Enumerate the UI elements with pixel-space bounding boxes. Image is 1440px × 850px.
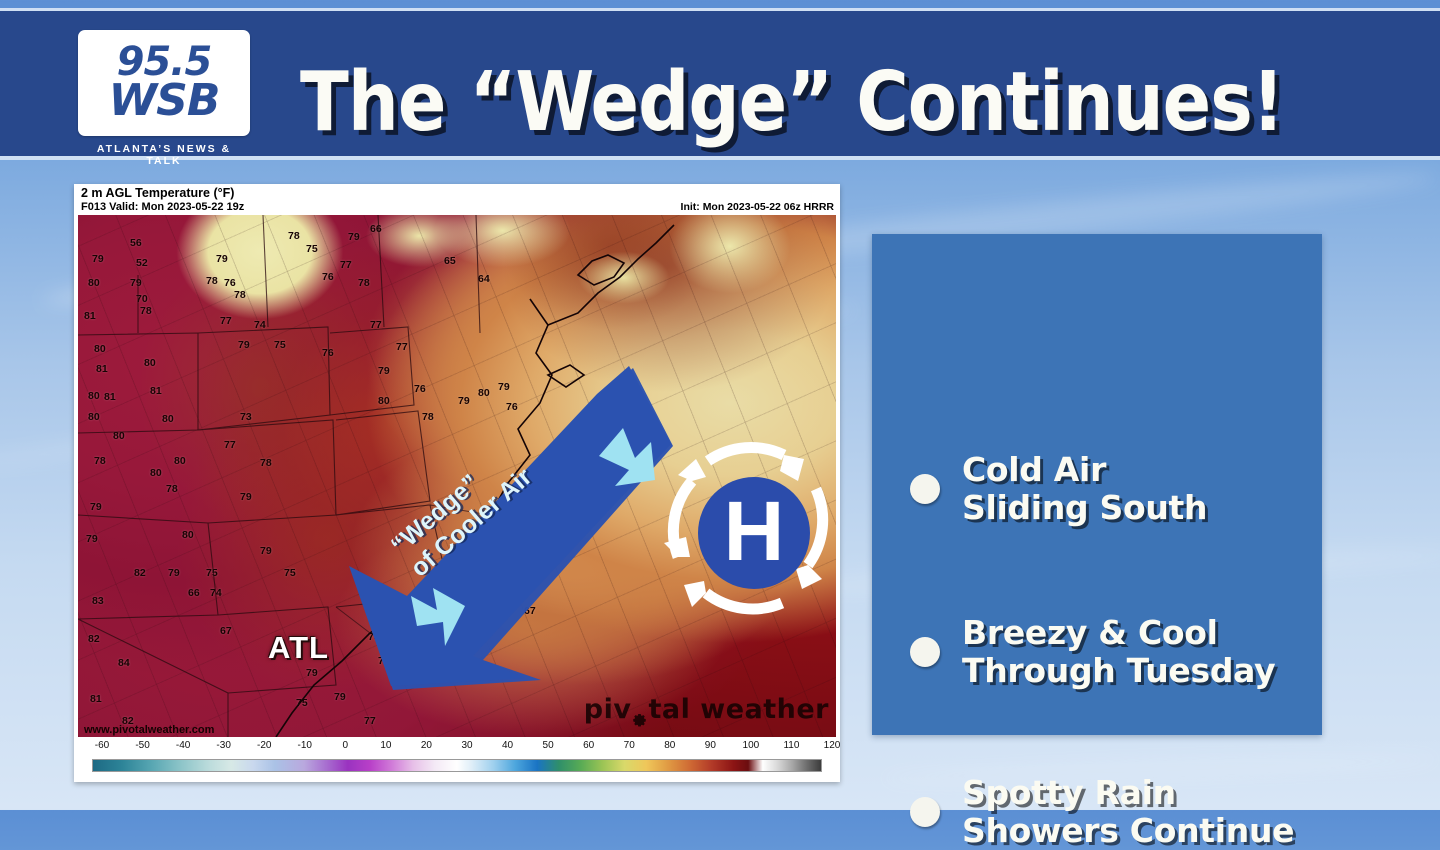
colorbar-tick: 100 xyxy=(743,740,760,751)
pivotal-weather-url: www.pivotalweather.com xyxy=(84,724,214,736)
colorbar-tick: 70 xyxy=(624,740,635,751)
bullet-text: Breezy & Cool Through Tuesday xyxy=(962,614,1275,690)
colorbar-tick: 40 xyxy=(502,740,513,751)
bullet-text: Spotty Rain Showers Continue xyxy=(962,774,1294,850)
colorbar-tick: 90 xyxy=(705,740,716,751)
high-pressure-circle: H xyxy=(698,477,810,589)
colorbar-tick: 80 xyxy=(664,740,675,751)
colorbar-tick: -20 xyxy=(257,740,271,751)
bullet-dot-icon xyxy=(910,637,940,667)
bullet-item: Cold Air Sliding South xyxy=(910,451,1207,527)
map-title: 2 m AGL Temperature (°F) xyxy=(81,186,234,200)
colorbar-tick: 0 xyxy=(343,740,349,751)
bullet-line1: Breezy & Cool xyxy=(962,614,1275,652)
page-title: The “Wedge” Continues! xyxy=(300,53,1231,153)
header-bar: 95.5 WSB ATLANTA’S NEWS & TALK The “Wedg… xyxy=(0,8,1440,160)
map-header: 2 m AGL Temperature (°F) F013 Valid: Mon… xyxy=(74,184,840,215)
city-label-atl: ATL xyxy=(268,630,329,666)
colorbar-tick: 60 xyxy=(583,740,594,751)
temperature-colorbar: -60-50-40-30-20-100102030405060708090100… xyxy=(78,740,836,778)
wedge-arrow-annotation: “Wedge” of Cooler Air xyxy=(333,360,673,690)
bullet-item: Spotty Rain Showers Continue xyxy=(910,774,1294,850)
watermark-text-pre: piv xyxy=(584,694,632,725)
colorbar-tick: -60 xyxy=(95,740,109,751)
high-pressure-annotation: H xyxy=(656,437,836,627)
bullet-item: Breezy & Cool Through Tuesday xyxy=(910,614,1275,690)
colorbar-tick: 50 xyxy=(543,740,554,751)
pivotal-weather-watermark: piv tal weather xyxy=(584,694,829,725)
watermark-text-post: tal weather xyxy=(648,694,829,725)
colorbar-tick: 110 xyxy=(783,740,799,751)
colorbar-tick: 10 xyxy=(380,740,391,751)
map-valid-time: F013 Valid: Mon 2023-05-22 19z xyxy=(81,201,244,213)
bullet-line2: Sliding South xyxy=(962,489,1207,527)
weather-map-panel: 2 m AGL Temperature (°F) F013 Valid: Mon… xyxy=(74,184,840,782)
colorbar-tick: -50 xyxy=(135,740,149,751)
colorbar-tick: 30 xyxy=(461,740,472,751)
logo-callsign: WSB xyxy=(109,80,220,122)
high-pressure-letter: H xyxy=(724,489,785,573)
bullet-dot-icon xyxy=(910,797,940,827)
logo-card: 95.5 WSB xyxy=(78,30,250,136)
gear-icon xyxy=(632,705,647,720)
bullet-text: Cold Air Sliding South xyxy=(962,451,1207,527)
colorbar-tick: -40 xyxy=(176,740,190,751)
colorbar-gradient xyxy=(92,759,822,772)
logo-tagline: ATLANTA’S NEWS & TALK xyxy=(78,143,250,167)
colorbar-tick: -10 xyxy=(298,740,312,751)
bullet-line1: Spotty Rain xyxy=(962,774,1294,812)
colorbar-tick: 120 xyxy=(824,740,840,751)
temperature-field: 7980818081808180807879798382848182565279… xyxy=(78,215,836,737)
bullet-line2: Through Tuesday xyxy=(962,652,1275,690)
bullet-line2: Showers Continue xyxy=(962,812,1294,850)
station-logo: 95.5 WSB ATLANTA’S NEWS & TALK xyxy=(78,30,250,162)
map-init-time: Init: Mon 2023-05-22 06z HRRR xyxy=(681,201,834,213)
colorbar-tick: -30 xyxy=(216,740,230,751)
colorbar-tick-labels: -60-50-40-30-20-100102030405060708090100… xyxy=(88,740,826,755)
forecast-bullets-panel: Cold Air Sliding South Breezy & Cool Thr… xyxy=(872,234,1322,735)
bullet-line1: Cold Air xyxy=(962,451,1207,489)
colorbar-tick: 20 xyxy=(421,740,432,751)
bullet-dot-icon xyxy=(910,474,940,504)
